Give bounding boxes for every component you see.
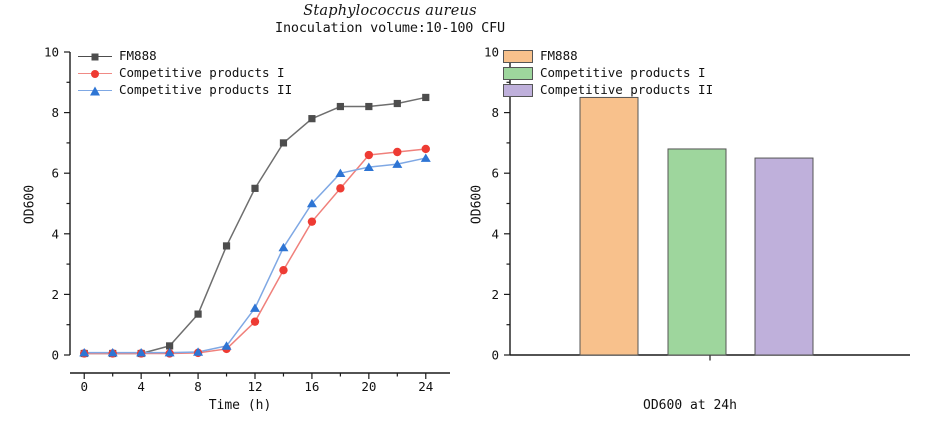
y-tick-label: 0: [51, 348, 59, 363]
x-tick-label: 20: [361, 379, 376, 394]
line-chart-x-axis-label: Time (h): [160, 398, 320, 413]
bar-1[interactable]: [668, 149, 726, 355]
bar-chart-y-axis-label: OD600: [470, 170, 485, 240]
data-point-circle: [393, 148, 401, 156]
legend-label-fm888: FM888: [540, 50, 578, 63]
green-swatch-icon: [503, 67, 533, 80]
y-tick-label: 4: [51, 226, 59, 241]
data-point-square: [280, 139, 287, 146]
bar-chart-legend: FM888 Competitive products I Competitive…: [503, 48, 713, 99]
legend-item-competitive-ii[interactable]: Competitive products II: [503, 82, 713, 99]
data-point-square: [337, 103, 344, 110]
figure-canvas: Staphylococcus aureus Inoculation volume…: [0, 0, 935, 425]
square-marker-icon: [78, 50, 112, 64]
y-tick-label: 8: [51, 105, 59, 120]
y-tick-label: 6: [491, 166, 499, 181]
line-chart-panel: 024681004812162024 OD600 Time (h) FM888 …: [0, 0, 470, 425]
x-tick-label: 24: [418, 379, 433, 394]
circle-marker-icon: [78, 67, 112, 81]
data-point-triangle: [250, 303, 260, 311]
x-tick-label: 8: [194, 379, 202, 394]
y-tick-label: 2: [491, 287, 499, 302]
data-point-circle: [308, 217, 316, 225]
y-tick-label: 2: [51, 287, 59, 302]
data-point-square: [251, 185, 258, 192]
data-point-square: [223, 242, 230, 249]
y-tick-label: 0: [491, 348, 499, 363]
legend-label-competitive-ii: Competitive products II: [119, 84, 292, 97]
data-point-circle: [279, 266, 287, 274]
data-point-square: [394, 100, 401, 107]
x-tick-label: 0: [80, 379, 88, 394]
line-chart-y-axis-label: OD600: [23, 170, 38, 240]
x-tick-label: 12: [247, 379, 262, 394]
legend-label-competitive-i: Competitive products I: [119, 67, 285, 80]
y-tick-label: 6: [51, 166, 59, 181]
orange-swatch-icon: [503, 50, 533, 63]
y-tick-label: 10: [484, 45, 499, 60]
bar-chart-panel: 0246810 OD600 OD600 at 24h FM888 Competi…: [455, 0, 935, 425]
legend-label-competitive-ii: Competitive products II: [540, 84, 713, 97]
data-point-square: [422, 94, 429, 101]
legend-item-fm888[interactable]: FM888: [503, 48, 713, 65]
data-point-triangle: [278, 243, 288, 251]
y-tick-label: 10: [44, 45, 59, 60]
bar-chart-x-axis-label: OD600 at 24h: [560, 398, 820, 413]
legend-item-competitive-ii[interactable]: Competitive products II: [78, 82, 292, 99]
data-point-square: [308, 115, 315, 122]
legend-item-competitive-i[interactable]: Competitive products I: [78, 65, 292, 82]
y-tick-label: 8: [491, 105, 499, 120]
triangle-marker-icon: [78, 84, 112, 98]
legend-item-competitive-i[interactable]: Competitive products I: [503, 65, 713, 82]
data-point-circle: [365, 151, 373, 159]
data-point-square: [194, 310, 201, 317]
x-tick-label: 16: [304, 379, 319, 394]
data-point-circle: [251, 317, 259, 325]
data-point-circle: [422, 145, 430, 153]
series-line-square: [84, 97, 426, 353]
line-chart-legend: FM888 Competitive products I Competitive…: [78, 48, 292, 99]
bar-0[interactable]: [580, 97, 638, 355]
data-point-triangle: [421, 153, 431, 161]
legend-label-fm888: FM888: [119, 50, 157, 63]
bar-2[interactable]: [755, 158, 813, 355]
purple-swatch-icon: [503, 84, 533, 97]
data-point-circle: [336, 184, 344, 192]
x-tick-label: 4: [137, 379, 145, 394]
data-point-square: [365, 103, 372, 110]
legend-label-competitive-i: Competitive products I: [540, 67, 706, 80]
legend-item-fm888[interactable]: FM888: [78, 48, 292, 65]
y-tick-label: 4: [491, 226, 499, 241]
